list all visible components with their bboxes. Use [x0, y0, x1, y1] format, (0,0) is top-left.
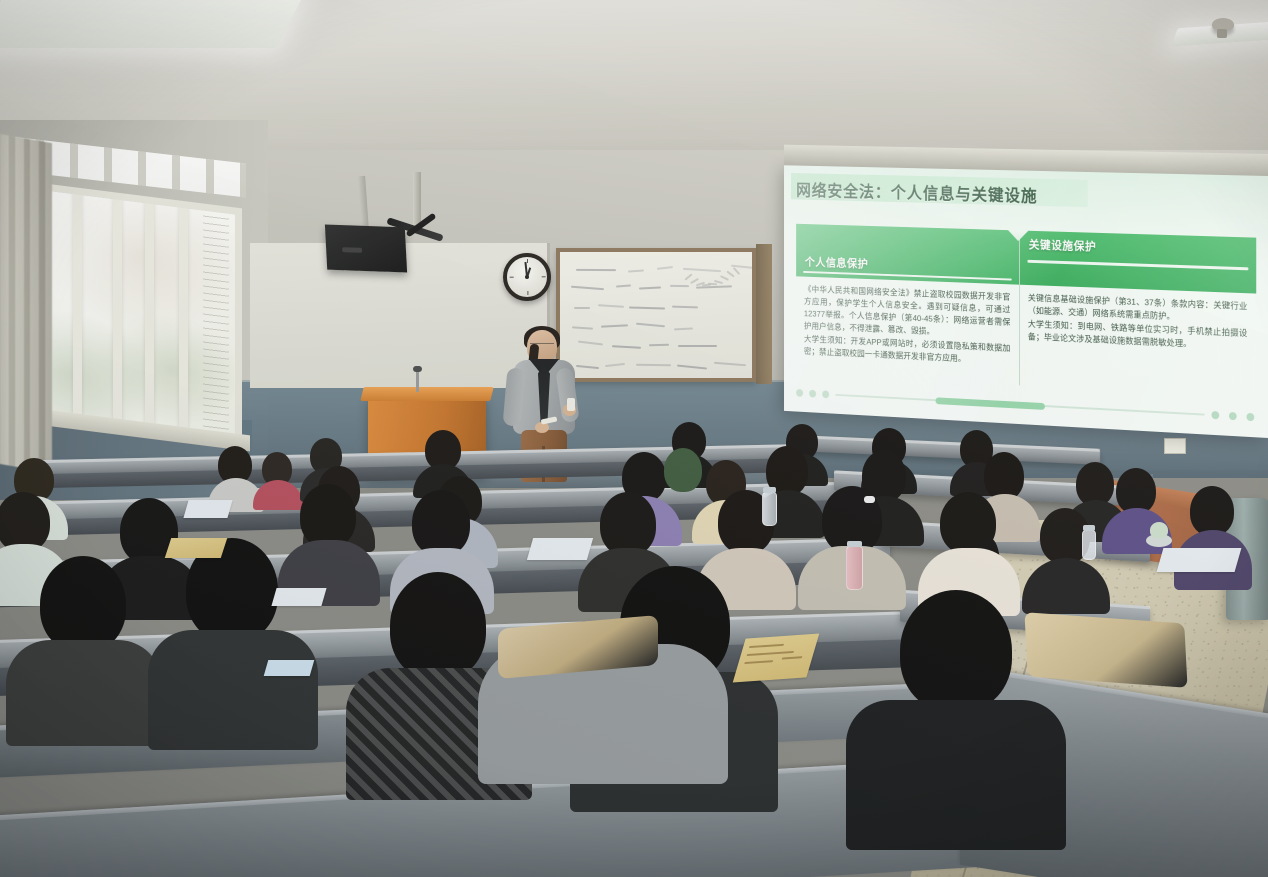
window-mullion [113, 193, 122, 432]
window-mullion [179, 201, 188, 440]
slide-title: 网络安全法：个人信息与关键设施 [796, 177, 1037, 207]
slide-columns: 个人信息保护 《中华人民共和国网络安全法》禁止盗取校园数据开发非官方应用，保护学… [796, 224, 1256, 398]
handwritten-note [733, 634, 820, 683]
student-head [300, 484, 356, 548]
whiteboard-handwriting [566, 258, 746, 372]
student-head [40, 556, 126, 652]
clock-center-pin [525, 275, 529, 279]
window-mullion [73, 188, 82, 427]
student-head [412, 490, 470, 556]
slide-paragraph: 《中华人民共和国网络安全法》禁止盗取校园数据开发非官方应用，保护学生个人信息安全… [804, 283, 1010, 341]
slide-column-header: 关键设施保护 [1020, 230, 1257, 293]
water-bottle [762, 492, 777, 526]
draped-jacket [1024, 612, 1187, 688]
ceiling-light-panel [0, 0, 304, 48]
slide-column-body: 《中华人民共和国网络安全法》禁止盗取校园数据开发非官方应用，保护学生个人信息安全… [796, 276, 1019, 385]
slide-column-personal-information: 个人信息保护 《中华人民共和国网络安全法》禁止盗取校园数据开发非官方应用，保护学… [796, 224, 1019, 386]
slide-progress-track [835, 394, 1204, 416]
handwritten-note [165, 538, 227, 558]
student-head [900, 590, 1012, 712]
slide-column-header-label: 关键设施保护 [1020, 230, 1106, 254]
clock-tick [542, 276, 546, 277]
slide-footer-dot [796, 389, 803, 397]
wall-sign [1164, 438, 1186, 454]
clock-tick [527, 291, 528, 295]
loudspeaker-icon [325, 225, 407, 273]
slide-footer-dot [1211, 411, 1219, 419]
slide-column-critical-infrastructure: 关键设施保护 关键信息基础设施保护（第31、37条）条款内容：关键行业（如能源、… [1019, 230, 1257, 397]
instructor-held-marker [567, 398, 575, 411]
classroom-lecture-photograph: 网络安全法：个人信息与关键设施 个人信息保护 《中华人民共和国网络安全法》禁止盗… [0, 0, 1268, 877]
slide-progress-fill [935, 397, 1045, 410]
hair-tie [864, 496, 875, 503]
water-bottle [1082, 530, 1096, 560]
paper-sheet [264, 660, 315, 676]
clock-tick [527, 259, 528, 263]
student-head [0, 492, 50, 552]
presentation-slide: 网络安全法：个人信息与关键设施 个人信息保护 《中华人民共和国网络安全法》禁止盗… [784, 165, 1268, 438]
slide-column-header-label: 个人信息保护 [796, 254, 877, 280]
whiteboard-frame-post [756, 244, 772, 384]
student-head [984, 452, 1024, 500]
student-head [600, 492, 656, 556]
student-shoulders [846, 700, 1066, 850]
smoke-detector-icon [1212, 18, 1234, 31]
tissue-bundle [1150, 522, 1168, 538]
student-head [664, 448, 702, 492]
slide-footer-dot [1229, 412, 1237, 420]
clock-tick [510, 276, 514, 277]
slide-column-header-rule [1027, 260, 1248, 270]
paper-sheet [527, 538, 593, 560]
window-mullion [145, 197, 154, 436]
slide-footer-dots-right [1211, 411, 1254, 421]
slide-footer-dot [1246, 413, 1254, 421]
lectern-microphone-icon [416, 370, 419, 392]
bottle-cap [847, 541, 862, 547]
student-shoulders [148, 630, 318, 750]
paper-sheet [183, 500, 232, 518]
water-bottle [846, 546, 863, 590]
slide-column-body: 关键信息基础设施保护（第31、37条）条款内容：关键行业（如能源、交通）网络系统… [1020, 285, 1257, 398]
window-curtain [0, 133, 52, 473]
paper-sheet [271, 588, 326, 606]
paper-sheet [1157, 548, 1242, 572]
student-shoulders [6, 640, 162, 746]
slide-column-header: 个人信息保护 [796, 224, 1019, 285]
student-head [390, 572, 486, 680]
bottle-cap [1083, 525, 1095, 531]
projection-screen: 网络安全法：个人信息与关键设施 个人信息保护 《中华人民共和国网络安全法》禁止盗… [784, 165, 1268, 438]
slide-footer-dot [809, 390, 816, 398]
wall-clock [503, 253, 551, 301]
student-head [1190, 486, 1234, 536]
window-screen-mesh [203, 206, 229, 443]
slide-footer-dot [822, 390, 829, 398]
bottle-cap [763, 487, 776, 493]
lectern-top [360, 387, 493, 401]
